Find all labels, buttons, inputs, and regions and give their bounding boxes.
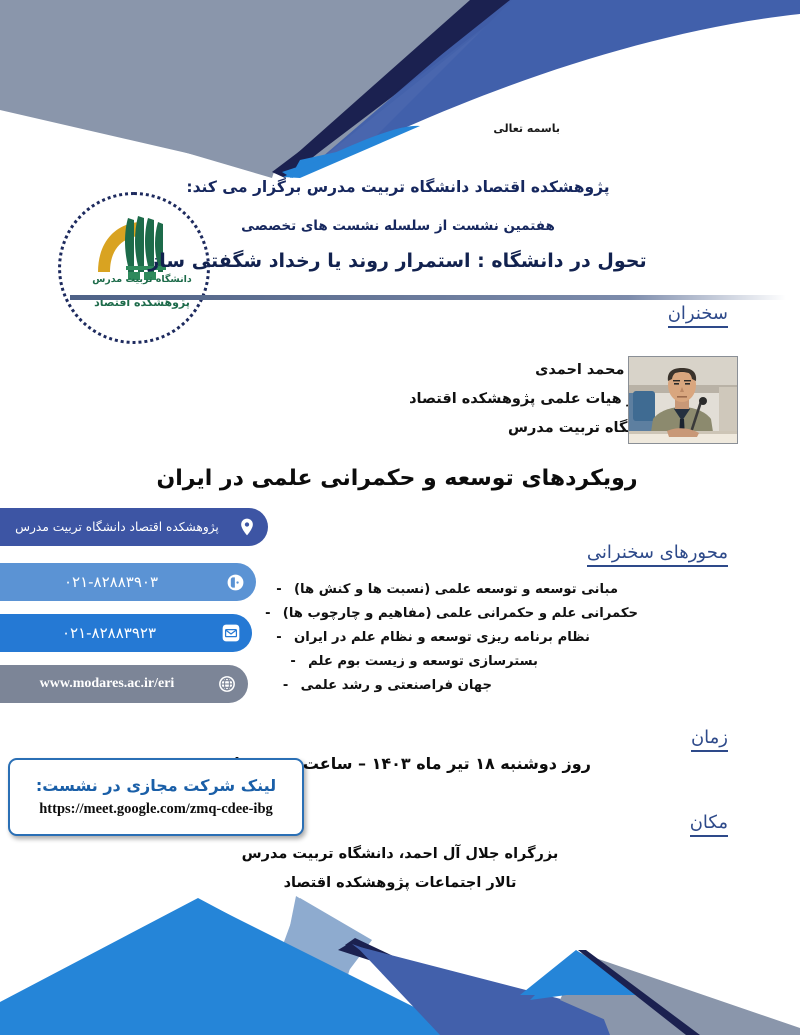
virtual-meeting-link-box[interactable]: لینک شرکت مجازی در نشست: https://meet.go…: [8, 758, 304, 836]
event-address-line1: بزرگراه جلال آل احمد، دانشگاه تربیت مدرس: [80, 846, 720, 862]
contact-phone2-bar: ۰۲۱-۸۲۸۸۳۹۲۳: [0, 614, 252, 652]
speaker-details: علی محمد احمدی عضو هیات علمی پژوهشکده اق…: [300, 356, 660, 443]
contact-phone2-text: ۰۲۱-۸۲۸۸۳۹۲۳: [0, 624, 216, 642]
speaker-affiliation: دانشگاه تربیت مدرس: [300, 414, 660, 443]
bullet-dash-icon: -: [278, 650, 308, 674]
logo-university-name: دانشگاه تربیت مدرس: [66, 274, 218, 285]
header-series-line: هفتمین نشست از سلسله نشست های تخصصی: [78, 218, 718, 234]
topic-text: بسترسازی توسعه و زیست بوم علم: [308, 650, 538, 674]
globe-icon: [212, 669, 242, 699]
topic-text: حکمرانی علم و حکمرانی علمی (مفاهیم و چار…: [283, 602, 638, 626]
topic-text: جهان فراصنعتی و رشد علمی: [301, 674, 492, 698]
phone-icon: [220, 567, 250, 597]
event-address-line2: تالار اجتماعات پژوهشکده اقتصاد: [80, 875, 720, 891]
header-divider: [70, 295, 786, 300]
contact-website-bar[interactable]: www.modares.ac.ir/eri: [0, 665, 248, 703]
contact-address-text: پژوهشکده اقتصاد دانشگاه تربیت مدرس: [0, 520, 232, 534]
contact-phone1-text: ۰۲۱-۸۲۸۸۳۹۰۳: [0, 573, 220, 591]
bullet-dash-icon: -: [271, 674, 301, 698]
bullet-dash-icon: -: [264, 626, 294, 650]
topic-text: نظام برنامه ریزی توسعه و نظام علم در ایر…: [294, 626, 590, 650]
poster-canvas: باسمه تعالی دانشگاه تربیت مدرس پژوهشکده …: [0, 0, 800, 1035]
meeting-link-url[interactable]: https://meet.google.com/zmq-cdee-ibg: [39, 801, 273, 818]
header-organizer-line: پژوهشکده اقتصاد دانشگاه تربیت مدرس برگزا…: [78, 178, 718, 196]
section-heading-time: زمان: [691, 727, 728, 752]
speaker-photo: [628, 356, 738, 444]
section-heading-speaker: سخنران: [668, 303, 728, 328]
section-heading-topics: محورهای سخنرانی: [587, 542, 728, 567]
meeting-link-title: لینک شرکت مجازی در نشست:: [36, 776, 276, 795]
basmaleh-text: باسمه تعالی: [493, 122, 560, 135]
topic-text: مبانی توسعه و توسعه علمی (نسبت ها و کنش …: [294, 578, 618, 602]
contact-phone1-bar: ۰۲۱-۸۲۸۸۳۹۰۳: [0, 563, 256, 601]
contact-website-text[interactable]: www.modares.ac.ir/eri: [0, 676, 212, 692]
bullet-dash-icon: -: [253, 602, 283, 626]
bullet-dash-icon: -: [264, 578, 294, 602]
location-pin-icon: [232, 512, 262, 542]
header-main-title: تحول در دانشگاه : استمرار روند یا رخداد …: [65, 250, 730, 272]
contact-address-bar: پژوهشکده اقتصاد دانشگاه تربیت مدرس: [0, 508, 268, 546]
speaker-title: عضو هیات علمی پژوهشکده اقتصاد: [300, 385, 660, 414]
section-heading-place: مکان: [690, 812, 728, 837]
envelope-icon: [216, 618, 246, 648]
speaker-name: علی محمد احمدی: [300, 356, 660, 385]
lecture-title: رویکردهای توسعه و حکمرانی علمی در ایران: [72, 466, 722, 491]
